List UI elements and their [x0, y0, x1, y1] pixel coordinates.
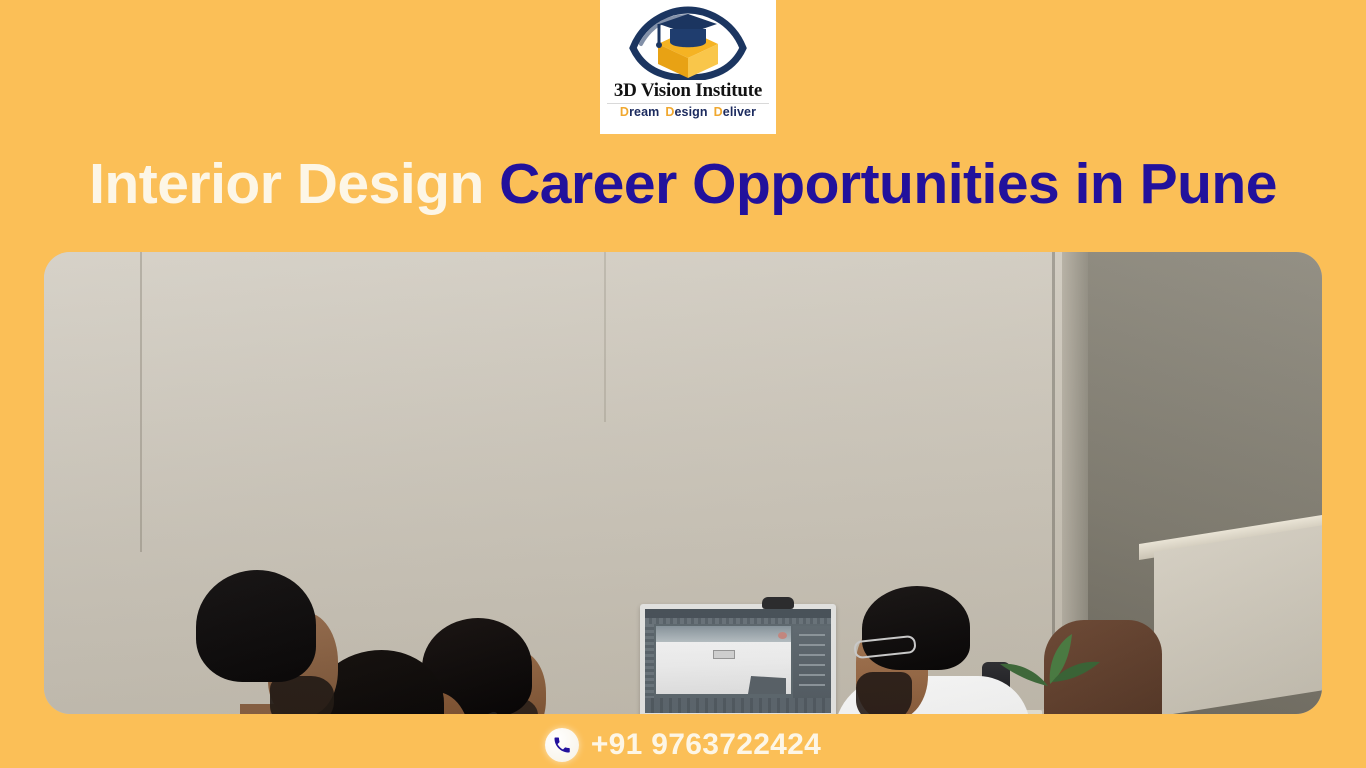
software-right-panel: [793, 626, 831, 700]
tagline-word-design: Design: [665, 105, 707, 119]
student-black-tshirt-hair: [196, 570, 316, 682]
tagline-word-dream: Dream: [620, 105, 659, 119]
gold-chain: [220, 704, 266, 714]
potted-plant-icon: [996, 610, 1106, 688]
logo-tagline: DreamDesignDeliver: [620, 105, 756, 119]
phone-handset-icon: [552, 735, 572, 755]
tagline-word-deliver: Deliver: [714, 105, 756, 119]
logo-divider: [607, 103, 769, 104]
phone-icon[interactable]: [545, 728, 579, 762]
viewport-object: [713, 650, 735, 659]
software-viewport-sky: [656, 626, 791, 642]
software-status-bar: [645, 698, 831, 713]
instructor-hair: [862, 586, 970, 670]
webcam-icon: [762, 597, 794, 609]
institute-logo-card: 3D Vision Institute DreamDesignDeliver: [600, 0, 776, 134]
3d-vision-eye-cube-graduation-cap-logo: [623, 4, 753, 80]
viewport-object: [748, 676, 786, 694]
contact-phone-number[interactable]: +91 9763722424: [591, 728, 821, 762]
classroom-photo: 118: [44, 252, 1322, 714]
wall-lower-panel: [1154, 524, 1322, 714]
wall-seam: [140, 252, 142, 552]
page-title: Interior Design Career Opportunities in …: [0, 150, 1366, 218]
contact-footer: +91 9763722424: [0, 722, 1366, 768]
software-left-panel: [645, 624, 654, 698]
wall-seam: [604, 252, 606, 422]
logo-institute-name: 3D Vision Institute: [614, 81, 762, 101]
software-menu-bar: [645, 609, 831, 618]
viewport-marker: [778, 632, 787, 639]
page-title-part-dark: Career Opportunities in Pune: [499, 152, 1277, 216]
instructor-beard: [856, 672, 912, 714]
page-title-part-light: Interior Design: [89, 152, 484, 216]
software-toolbar: [645, 618, 831, 624]
